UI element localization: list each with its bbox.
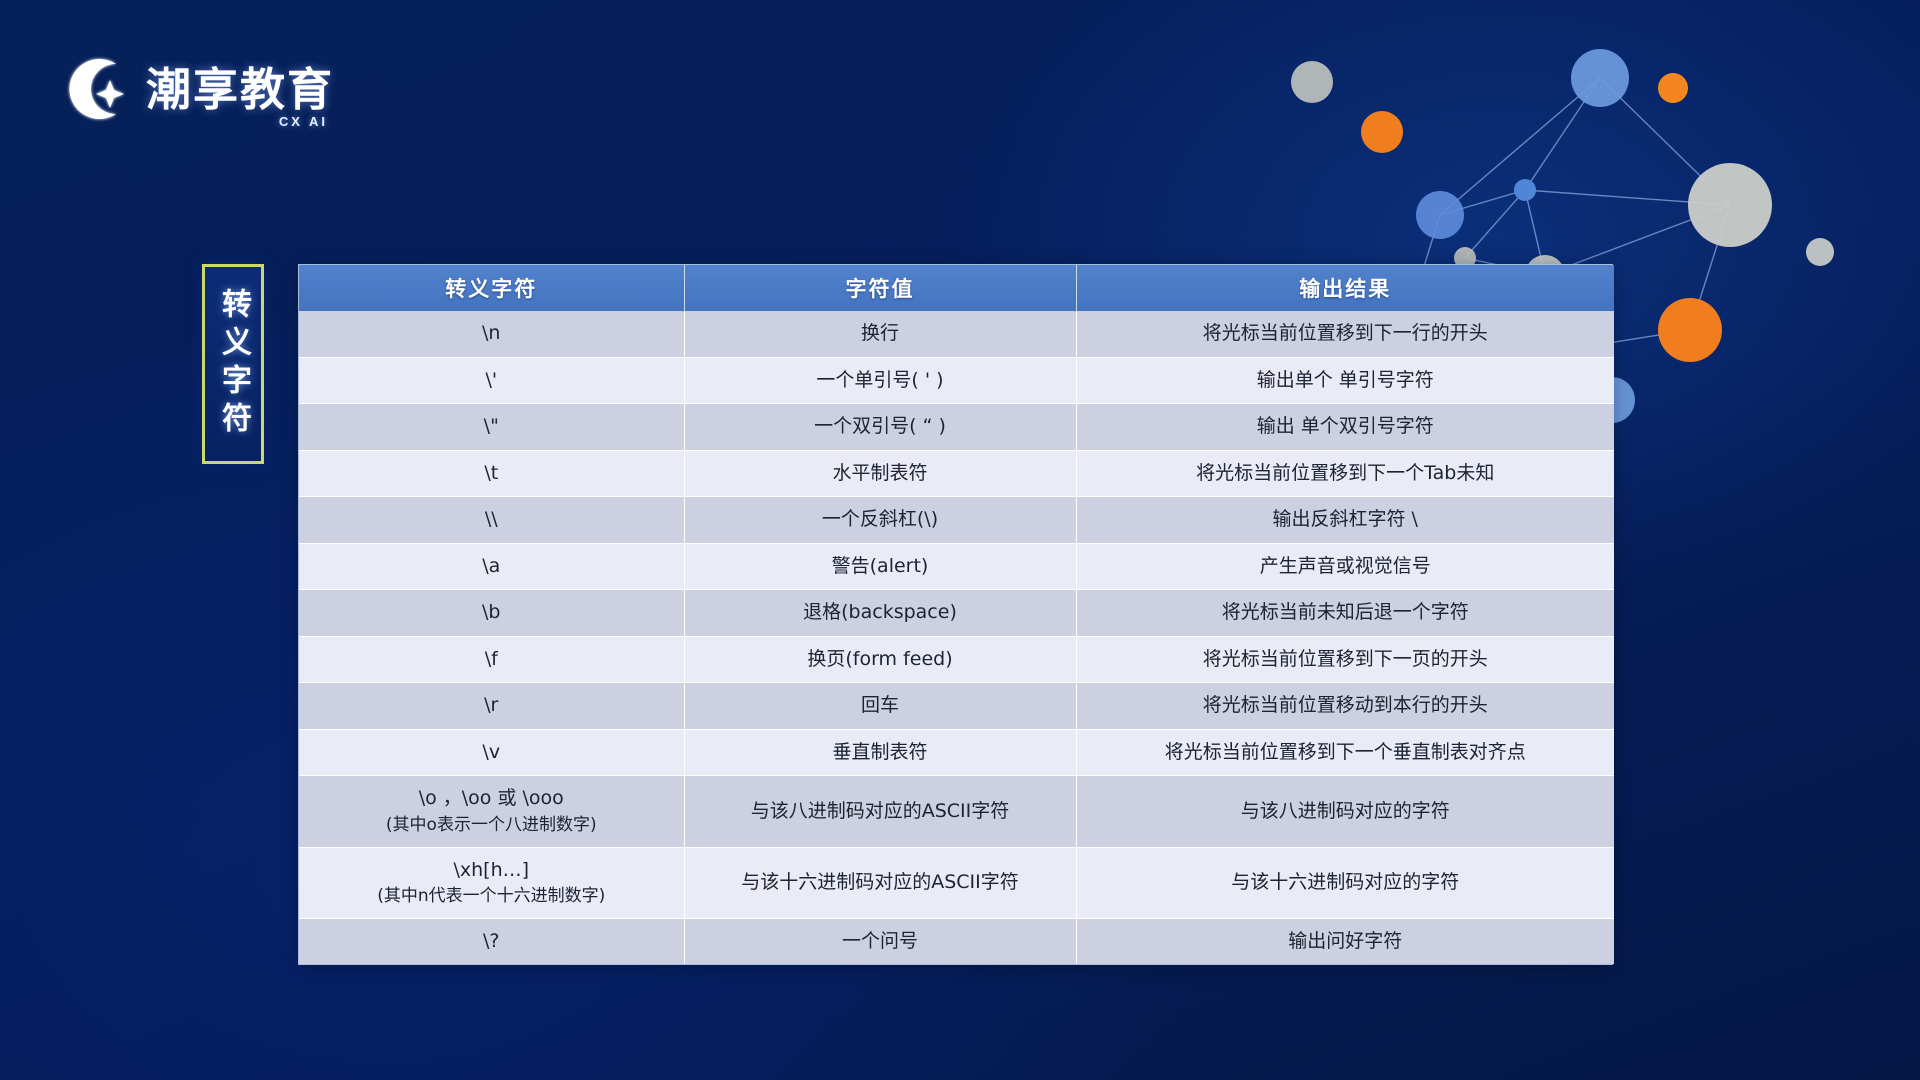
section-label-badge: 转义字符 [202, 264, 264, 464]
table-row: \b退格(backspace)将光标当前未知后退一个字符 [299, 590, 1614, 637]
cell-escape: \b [299, 590, 684, 637]
cell-escape: \t [299, 450, 684, 497]
table-row: \\一个反斜杠(\)输出反斜杠字符 \ [299, 497, 1614, 544]
cell-value: 一个问号 [684, 918, 1076, 964]
cell-output: 将光标当前未知后退一个字符 [1076, 590, 1614, 637]
cell-output: 与该八进制码对应的字符 [1076, 776, 1614, 847]
table-header-row: 转义字符 字符值 输出结果 [299, 265, 1614, 311]
cell-escape-note: (其中n代表一个十六进制数字) [307, 884, 676, 909]
cell-output: 输出问好字符 [1076, 918, 1614, 964]
cell-output: 产生声音或视觉信号 [1076, 543, 1614, 590]
section-label-text: 转义字符 [211, 288, 255, 440]
cell-output: 将光标当前位置移到下一页的开头 [1076, 636, 1614, 683]
table-row: \f换页(form feed)将光标当前位置移到下一页的开头 [299, 636, 1614, 683]
cell-value: 与该十六进制码对应的ASCII字符 [684, 847, 1076, 918]
cell-output: 将光标当前位置移动到本行的开头 [1076, 683, 1614, 730]
escape-character-table: 转义字符 字符值 输出结果 \n换行将光标当前位置移到下一行的开头\'一个单引号… [298, 264, 1613, 965]
brand-name: 潮享教育 [146, 67, 334, 112]
table-row: \xh[h…](其中n代表一个十六进制数字)与该十六进制码对应的ASCII字符与… [299, 847, 1614, 918]
cell-escape: \n [299, 311, 684, 357]
cell-value: 一个单引号( ' ) [684, 357, 1076, 404]
cell-value: 垂直制表符 [684, 729, 1076, 776]
cell-output: 将光标当前位置移到下一个Tab未知 [1076, 450, 1614, 497]
cell-escape-note: (其中o表示一个八进制数字) [307, 813, 676, 838]
column-header-escape: 转义字符 [299, 265, 684, 311]
cell-escape: \o ，\oo 或 \ooo(其中o表示一个八进制数字) [299, 776, 684, 847]
brand-text-wrap: 潮享教育 CX AI [146, 67, 334, 112]
cell-value: 换行 [684, 311, 1076, 357]
table-row: \t水平制表符将光标当前位置移到下一个Tab未知 [299, 450, 1614, 497]
cell-output: 输出反斜杠字符 \ [1076, 497, 1614, 544]
cell-output: 与该十六进制码对应的字符 [1076, 847, 1614, 918]
table-row: \n换行将光标当前位置移到下一行的开头 [299, 311, 1614, 357]
column-header-output: 输出结果 [1076, 265, 1614, 311]
cell-output: 输出单个 单引号字符 [1076, 357, 1614, 404]
cell-value: 警告(alert) [684, 543, 1076, 590]
cell-output: 将光标当前位置移到下一行的开头 [1076, 311, 1614, 357]
table-row: \'一个单引号( ' )输出单个 单引号字符 [299, 357, 1614, 404]
cell-escape: \\ [299, 497, 684, 544]
cell-escape: \? [299, 918, 684, 964]
cell-escape: \f [299, 636, 684, 683]
table-row: \a警告(alert)产生声音或视觉信号 [299, 543, 1614, 590]
table-row: \"一个双引号( “ )输出 单个双引号字符 [299, 404, 1614, 451]
cell-escape: \a [299, 543, 684, 590]
cell-value: 与该八进制码对应的ASCII字符 [684, 776, 1076, 847]
brand-logo: 潮享教育 CX AI [58, 52, 334, 126]
cell-escape: \' [299, 357, 684, 404]
table-row: \?一个问号输出问好字符 [299, 918, 1614, 964]
cell-output: 输出 单个双引号字符 [1076, 404, 1614, 451]
table-row: \o ，\oo 或 \ooo(其中o表示一个八进制数字)与该八进制码对应的ASC… [299, 776, 1614, 847]
cell-value: 回车 [684, 683, 1076, 730]
column-header-value: 字符值 [684, 265, 1076, 311]
cell-output: 将光标当前位置移到下一个垂直制表对齐点 [1076, 729, 1614, 776]
table-row: \v垂直制表符将光标当前位置移到下一个垂直制表对齐点 [299, 729, 1614, 776]
cell-value: 水平制表符 [684, 450, 1076, 497]
cell-escape: \r [299, 683, 684, 730]
slide-canvas: 潮享教育 CX AI [0, 0, 1920, 1080]
cell-escape: \v [299, 729, 684, 776]
cell-escape: \" [299, 404, 684, 451]
cell-value: 换页(form feed) [684, 636, 1076, 683]
cell-value: 一个反斜杠(\) [684, 497, 1076, 544]
cell-value: 退格(backspace) [684, 590, 1076, 637]
crescent-star-icon [58, 52, 132, 126]
cell-value: 一个双引号( “ ) [684, 404, 1076, 451]
brand-subtitle: CX AI [279, 114, 328, 129]
table-row: \r回车将光标当前位置移动到本行的开头 [299, 683, 1614, 730]
cell-escape: \xh[h…](其中n代表一个十六进制数字) [299, 847, 684, 918]
table-body: \n换行将光标当前位置移到下一行的开头\'一个单引号( ' )输出单个 单引号字… [299, 311, 1614, 964]
